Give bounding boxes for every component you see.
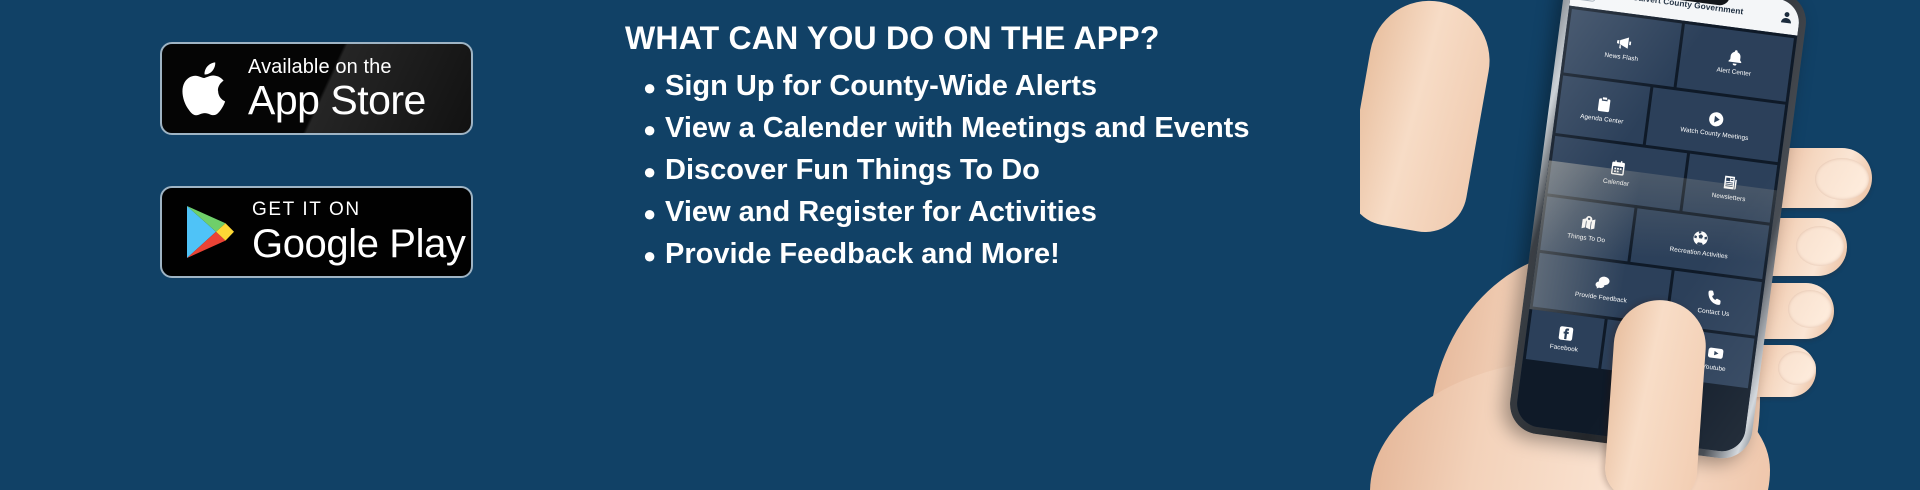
promo-copy: WHAT CAN YOU DO ON THE APP? ● Sign Up fo… bbox=[625, 20, 1445, 275]
tile-label: Facebook bbox=[1549, 344, 1578, 355]
app-store-badge-text: Available on the App Store bbox=[248, 57, 426, 121]
tile-label: Recreation Activities bbox=[1669, 246, 1728, 261]
fingernail-shape bbox=[1788, 290, 1832, 328]
app-store-badge-button[interactable]: Available on the App Store bbox=[160, 42, 473, 135]
tile-facebook[interactable]: Facebook bbox=[1526, 309, 1605, 368]
newspaper-icon bbox=[1721, 174, 1740, 193]
feature-label: Provide Feedback and More! bbox=[665, 233, 1060, 275]
tile-label: Contact Us bbox=[1697, 307, 1730, 318]
list-item: ● View a Calender with Meetings and Even… bbox=[625, 107, 1445, 149]
soccer-ball-icon bbox=[1691, 229, 1710, 248]
facebook-icon bbox=[1556, 324, 1575, 343]
county-seal-icon: CALVERT bbox=[1576, 0, 1597, 1]
feature-list: ● Sign Up for County-Wide Alerts ● View … bbox=[625, 65, 1445, 275]
bell-icon bbox=[1726, 48, 1745, 67]
bullet-icon: ● bbox=[643, 198, 665, 230]
tile-label: Youtube bbox=[1702, 364, 1726, 374]
google-play-badge-button[interactable]: GET IT ON Google Play bbox=[160, 186, 473, 278]
google-play-badge-line1: GET IT ON bbox=[252, 200, 466, 219]
bullet-icon: ● bbox=[643, 240, 665, 272]
tile-things-to-do[interactable]: Things To Do bbox=[1540, 196, 1634, 261]
tile-label: Watch County Meetings bbox=[1680, 127, 1749, 143]
hand-holding-phone-image: CALVERT Calvert County Government bbox=[1360, 0, 1920, 490]
tile-news-flash[interactable]: News Flash bbox=[1564, 9, 1682, 87]
tile-label: News Flash bbox=[1604, 52, 1639, 63]
google-play-triangle-icon bbox=[184, 203, 236, 261]
thumb-shape bbox=[1360, 0, 1499, 239]
feature-label: View and Register for Activities bbox=[665, 191, 1097, 233]
list-item: ● Provide Feedback and More! bbox=[625, 233, 1445, 275]
tile-label: Newsletters bbox=[1711, 192, 1746, 203]
apple-logo-icon bbox=[182, 58, 234, 120]
google-play-badge-line2: Google Play bbox=[252, 224, 466, 264]
tile-label: Calendar bbox=[1602, 178, 1629, 188]
clipboard-icon bbox=[1594, 95, 1613, 114]
bullet-icon: ● bbox=[643, 114, 665, 146]
person-icon[interactable] bbox=[1779, 9, 1795, 25]
calendar-icon bbox=[1608, 159, 1627, 178]
store-badges: Available on the App Store GET IT ON Goo… bbox=[160, 42, 480, 278]
youtube-icon bbox=[1706, 344, 1725, 363]
tile-agenda-center[interactable]: Agenda Center bbox=[1556, 75, 1651, 144]
app-promo-banner: Available on the App Store GET IT ON Goo… bbox=[0, 0, 1920, 490]
bullet-icon: ● bbox=[643, 156, 665, 188]
app-store-badge-line2: App Store bbox=[248, 80, 426, 121]
fingernail-shape bbox=[1778, 351, 1816, 385]
chat-bubbles-icon bbox=[1593, 274, 1612, 293]
tile-label: Things To Do bbox=[1567, 233, 1606, 245]
fingernail-shape bbox=[1815, 158, 1869, 200]
tile-label: Provide Feedback bbox=[1574, 291, 1627, 305]
play-circle-icon bbox=[1707, 110, 1726, 129]
tile-alert-center[interactable]: Alert Center bbox=[1676, 24, 1794, 102]
feature-label: View a Calender with Meetings and Events bbox=[665, 107, 1249, 149]
pointing-finger-shape bbox=[1603, 297, 1709, 490]
list-item: ● Discover Fun Things To Do bbox=[625, 149, 1445, 191]
list-item: ● Sign Up for County-Wide Alerts bbox=[625, 65, 1445, 107]
page-title: WHAT CAN YOU DO ON THE APP? bbox=[625, 20, 1445, 57]
megaphone-icon bbox=[1614, 33, 1633, 52]
feature-label: Discover Fun Things To Do bbox=[665, 149, 1040, 191]
map-pin-icon bbox=[1578, 214, 1597, 233]
app-store-badge-line1: Available on the bbox=[248, 57, 426, 77]
tile-label: Agenda Center bbox=[1580, 114, 1624, 127]
fingernail-shape bbox=[1796, 226, 1844, 266]
bullet-icon: ● bbox=[643, 72, 665, 104]
phone-icon bbox=[1706, 289, 1725, 308]
list-item: ● View and Register for Activities bbox=[625, 191, 1445, 233]
tile-label: Alert Center bbox=[1716, 67, 1751, 79]
feature-label: Sign Up for County-Wide Alerts bbox=[665, 65, 1097, 107]
tile-newsletters[interactable]: Newsletters bbox=[1682, 154, 1777, 223]
google-play-badge-text: GET IT ON Google Play bbox=[252, 200, 466, 264]
